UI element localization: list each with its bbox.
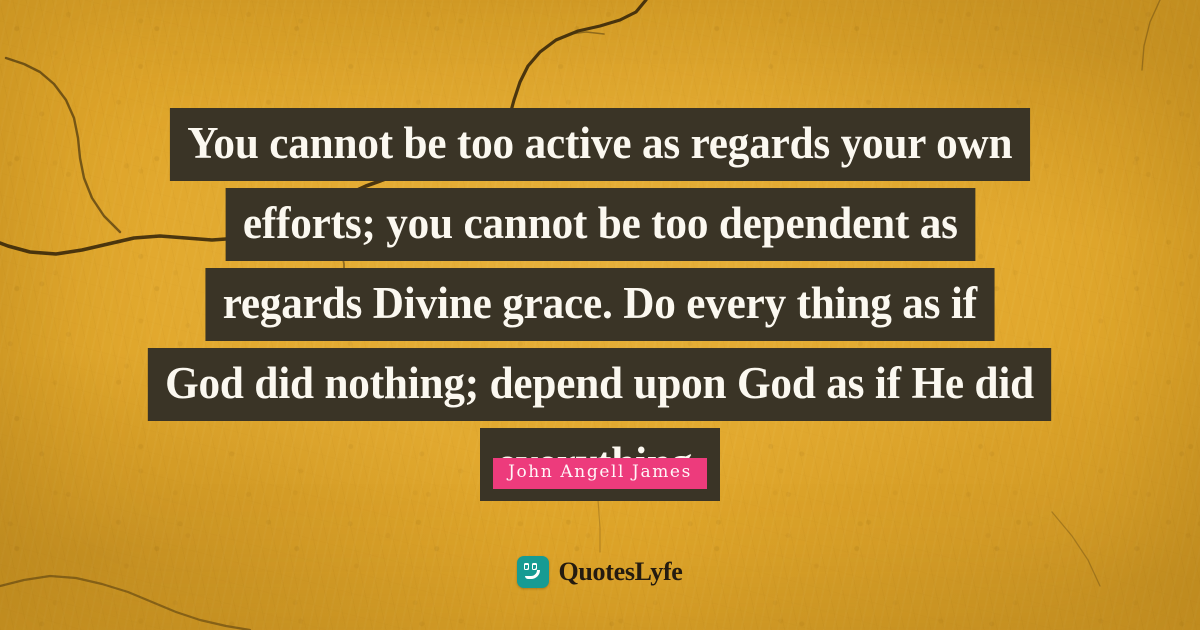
quote-text-block: You cannot be too active as regards your… [0,108,1200,501]
quote-line: efforts; you cannot be too dependent as [225,188,974,261]
author-name-badge: John Angell James [493,458,707,489]
brand-name: QuotesLyfe [558,559,682,585]
quote-card: You cannot be too active as regards your… [0,0,1200,630]
quote-line: You cannot be too active as regards your… [170,108,1030,181]
quote-line: God did nothing; depend upon God as if H… [148,348,1051,421]
brand-logo: QuotesLyfe [0,556,1200,588]
author-attribution: John Angell James [0,458,1200,489]
quoteslyfe-logo-icon [517,556,549,588]
quote-line: regards Divine grace. Do every thing as … [206,268,995,341]
